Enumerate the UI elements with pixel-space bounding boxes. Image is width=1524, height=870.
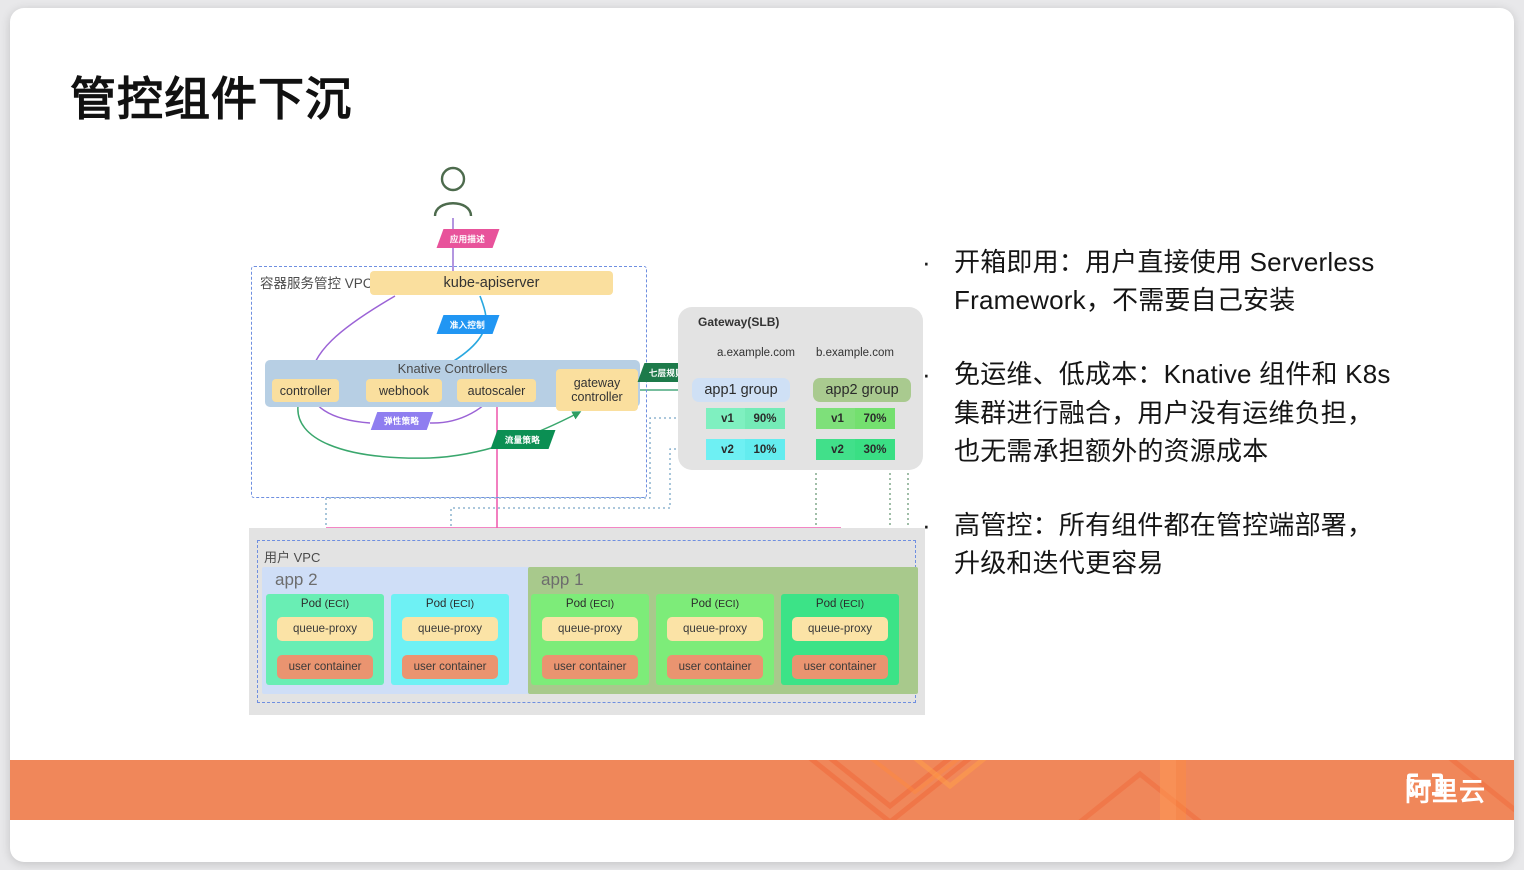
autoscaler-node: autoscaler xyxy=(457,379,536,402)
architecture-diagram: 容器服务管控 VPC kube-apiserver Knative Contro… xyxy=(10,8,950,798)
gateway-controller-line1: gateway xyxy=(574,376,621,390)
app1-v1-weight: 90% xyxy=(745,408,785,429)
user-container-box: user container xyxy=(542,655,638,679)
tag-traffic-policy-label: 流量策略 xyxy=(505,434,540,446)
app2-box-label: app 2 xyxy=(275,570,318,590)
domain-a-label: a.example.com xyxy=(717,347,795,359)
control-plane-vpc-label: 容器服务管控 VPC xyxy=(260,272,373,292)
queue-proxy-box: queue-proxy xyxy=(542,617,638,641)
app1-v2-version: v2 xyxy=(706,439,749,460)
app1-v1-version: v1 xyxy=(706,408,749,429)
bullet-item: · 高管控：所有组件都在管控端部署，升级和迭代更容易 xyxy=(922,506,1392,582)
user-icon xyxy=(430,166,476,216)
bullet-text: 开箱即用：用户直接使用 Serverless Framework，不需要自己安装 xyxy=(954,243,1392,319)
pod-title: Pod (ECI) xyxy=(531,598,649,610)
pod-card: Pod (ECI) queue-proxy user container xyxy=(656,594,774,685)
bullet-list: · 开箱即用：用户直接使用 Serverless Framework，不需要自己… xyxy=(922,243,1392,619)
bullet-marker: · xyxy=(922,355,954,470)
bullet-text: 高管控：所有组件都在管控端部署，升级和迭代更容易 xyxy=(954,506,1392,582)
footer-band: 阿里云 xyxy=(10,760,1514,820)
bullet-marker: · xyxy=(922,506,954,582)
user-container-box: user container xyxy=(277,655,373,679)
pod-title: Pod (ECI) xyxy=(266,598,384,610)
bullet-text: 免运维、低成本：Knative 组件和 K8s 集群进行融合，用户没有运维负担，… xyxy=(954,355,1392,470)
pod-eci-text: (ECI) xyxy=(840,598,865,610)
pod-card: Pod (ECI) queue-proxy user container xyxy=(391,594,509,685)
queue-proxy-box: queue-proxy xyxy=(402,617,498,641)
pod-title: Pod (ECI) xyxy=(781,598,899,610)
pod-eci-text: (ECI) xyxy=(325,598,350,610)
pod-title: Pod (ECI) xyxy=(656,598,774,610)
pod-eci-text: (ECI) xyxy=(590,598,615,610)
webhook-node: webhook xyxy=(366,379,442,402)
pod-title-text: Pod xyxy=(426,598,446,610)
pod-eci-text: (ECI) xyxy=(715,598,740,610)
user-container-box: user container xyxy=(667,655,763,679)
tag-app-description: 应用描述 xyxy=(437,229,500,248)
app2-v1-version: v1 xyxy=(816,408,859,429)
gateway-controller-node: gateway controller xyxy=(556,369,638,411)
brand-logo: 阿里云 xyxy=(1405,772,1486,809)
pod-title: Pod (ECI) xyxy=(391,598,509,610)
tag-admission-control-label: 准入控制 xyxy=(450,319,485,331)
pod-eci-text: (ECI) xyxy=(450,598,475,610)
alibaba-cloud-bracket-icon xyxy=(1405,772,1445,798)
queue-proxy-box: queue-proxy xyxy=(792,617,888,641)
pod-title-text: Pod xyxy=(566,598,586,610)
pod-card: Pod (ECI) queue-proxy user container xyxy=(266,594,384,685)
gateway-slb-title: Gateway(SLB) xyxy=(698,315,779,329)
app2-v1-weight: 70% xyxy=(855,408,895,429)
pod-title-text: Pod xyxy=(816,598,836,610)
app2-v2-version: v2 xyxy=(816,439,859,460)
app1-group-pill: app1 group xyxy=(692,378,790,402)
pod-title-text: Pod xyxy=(691,598,711,610)
bullet-item: · 免运维、低成本：Knative 组件和 K8s 集群进行融合，用户没有运维负… xyxy=(922,355,1392,470)
footer-chevron-pattern xyxy=(10,760,1514,820)
bullet-marker: · xyxy=(922,243,954,319)
tag-elastic-policy-label: 弹性策略 xyxy=(384,415,419,427)
user-container-box: user container xyxy=(402,655,498,679)
queue-proxy-box: queue-proxy xyxy=(277,617,373,641)
pod-card: Pod (ECI) queue-proxy user container xyxy=(531,594,649,685)
queue-proxy-box: queue-proxy xyxy=(667,617,763,641)
tag-app-description-label: 应用描述 xyxy=(450,233,485,245)
tag-traffic-policy: 流量策略 xyxy=(491,430,556,449)
tag-elastic-policy: 弹性策略 xyxy=(371,412,434,430)
app1-v2-weight: 10% xyxy=(745,439,785,460)
slide-canvas: 管控组件下沉 xyxy=(10,8,1514,862)
user-container-box: user container xyxy=(792,655,888,679)
bullet-item: · 开箱即用：用户直接使用 Serverless Framework，不需要自己… xyxy=(922,243,1392,319)
app2-v2-weight: 30% xyxy=(855,439,895,460)
user-vpc-label: 用户 VPC xyxy=(264,547,320,566)
app2-group-pill: app2 group xyxy=(813,378,911,402)
controller-node: controller xyxy=(272,379,339,402)
pod-title-text: Pod xyxy=(301,598,321,610)
gateway-controller-line2: controller xyxy=(571,390,622,404)
kube-apiserver-node: kube-apiserver xyxy=(370,271,613,295)
domain-b-label: b.example.com xyxy=(816,347,894,359)
tag-admission-control: 准入控制 xyxy=(437,315,500,334)
app1-box-label: app 1 xyxy=(541,570,584,590)
pod-card: Pod (ECI) queue-proxy user container xyxy=(781,594,899,685)
